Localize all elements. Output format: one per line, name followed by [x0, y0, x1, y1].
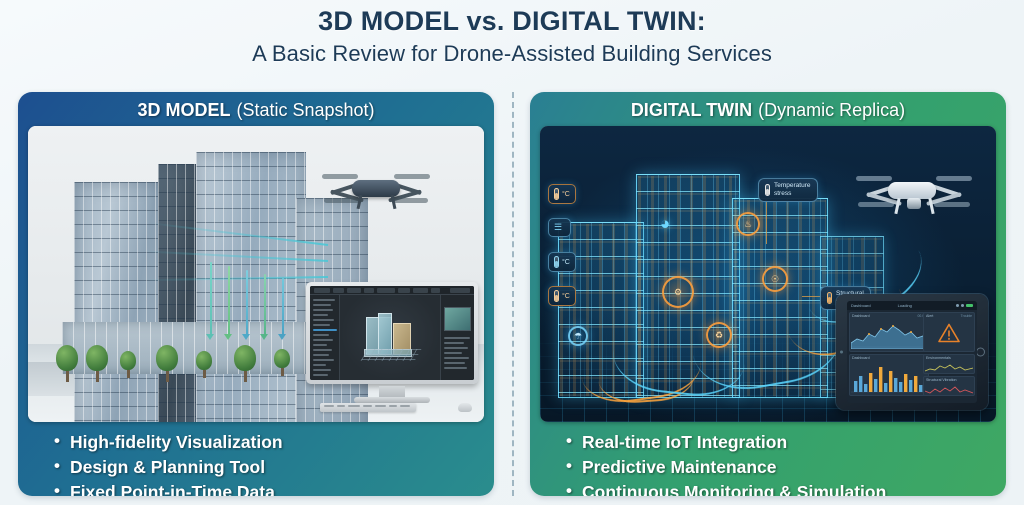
thermometer-icon: [827, 292, 832, 304]
flow-arrow: [278, 334, 286, 340]
line-chart: [925, 385, 973, 395]
right-scene: ◕ ♨ ⚙ ☉ ♻ ☂: [540, 126, 996, 422]
warning-triangle-icon: [938, 323, 960, 342]
sensor-chip-value: °C: [562, 259, 570, 266]
card-value: Trouble: [961, 314, 972, 318]
cad-workstation: [306, 282, 478, 408]
thermometer-icon: [554, 290, 559, 302]
list-item: Predictive Maintenance: [566, 455, 1006, 480]
panel-right-header: DIGITAL TWIN (Dynamic Replica): [530, 92, 1006, 126]
drone-camera-icon: [369, 195, 383, 206]
tablet-title: Dashboard: [851, 303, 871, 308]
data-flow-line: [228, 266, 230, 336]
area-chart: [851, 321, 927, 349]
panel-right-header-light: (Dynamic Replica): [758, 100, 905, 121]
sensor-chip-temperature-3[interactable]: °C: [548, 286, 576, 306]
flow-arrow: [224, 334, 232, 340]
card-heading: Dashboard: [852, 356, 870, 360]
tablet-status-icons: [956, 304, 973, 307]
dashboard-card-area[interactable]: Dashboard 00.00: [849, 312, 929, 352]
tag-temperature-stress[interactable]: Temperature stress: [758, 178, 818, 202]
cad-object-tree: [310, 295, 340, 380]
tablet-screen: Dashboard Loading Dashboard 00.00: [847, 301, 977, 403]
tree: [196, 351, 212, 378]
tree: [274, 349, 290, 376]
thermometer-icon: [554, 188, 559, 200]
mouse: [458, 403, 472, 412]
data-flow-line: [210, 262, 212, 336]
drone-camera-icon: [907, 198, 921, 209]
panel-3d-model: 3D MODEL (Static Snapshot): [18, 92, 494, 496]
tree: [56, 345, 78, 382]
left-bullet-list: High-fidelity Visualization Design & Pla…: [18, 422, 494, 496]
sensor-ring-icon: ♨: [736, 212, 760, 236]
battery-icon: [966, 304, 973, 307]
panel-left-header-strong: 3D MODEL: [137, 100, 230, 121]
panel-left-header-light: (Static Snapshot): [236, 100, 374, 121]
right-bullet-list: Real-time IoT Integration Predictive Mai…: [530, 422, 1006, 496]
page-subtitle: A Basic Review for Drone-Assisted Buildi…: [0, 41, 1024, 67]
list-item: Real-time IoT Integration: [566, 430, 1006, 455]
card-heading: Environmentals: [926, 356, 951, 360]
panel-left-header: 3D MODEL (Static Snapshot): [18, 92, 494, 126]
thermometer-icon: [765, 184, 770, 196]
bar-chart: [851, 363, 927, 393]
dashboard-card-alert[interactable]: Alert Trouble: [923, 312, 975, 352]
drone-right: [858, 164, 970, 222]
sensor-chip-temperature-2[interactable]: °C: [548, 252, 576, 272]
sensor-chip-value: °C: [562, 191, 570, 198]
list-item: Continuous Monitoring & Simulation: [566, 480, 1006, 496]
list-item: Fixed Point-in-Time Data: [54, 480, 494, 496]
flow-arrow: [206, 334, 214, 340]
data-flow-line: [264, 274, 266, 336]
data-flow-line: [246, 270, 248, 336]
page-title: 3D MODEL vs. DIGITAL TWIN:: [0, 6, 1024, 37]
drone-body: [888, 182, 936, 199]
sensor-chip-temperature-1[interactable]: °C: [548, 184, 576, 204]
signal-icon: [956, 304, 959, 307]
tag-leader-line: [766, 198, 767, 244]
flow-arrow: [242, 334, 250, 340]
dashboard-card-bars[interactable]: Dashboard: [849, 354, 929, 396]
monitor-screen: [310, 286, 474, 380]
keyboard: [320, 403, 416, 412]
list-item: Design & Planning Tool: [54, 455, 494, 480]
drone-left: [322, 162, 430, 220]
signal-icon: ☰: [554, 222, 562, 233]
tree: [120, 351, 136, 378]
tag-label-line2: stress: [774, 190, 791, 197]
panel-divider: [512, 92, 514, 496]
tablet-home-button[interactable]: [976, 348, 985, 357]
tree: [234, 345, 256, 382]
card-heading: Structural Vibration: [926, 378, 957, 382]
dashboard-card-environmentals[interactable]: Environmentals: [923, 354, 975, 374]
infographic-page: 3D MODEL vs. DIGITAL TWIN: A Basic Revie…: [0, 0, 1024, 505]
cad-properties-panel: [440, 295, 474, 380]
tree: [86, 345, 108, 382]
card-heading: Alert: [926, 314, 933, 318]
line-chart: [925, 363, 973, 373]
cad-view-cube: [444, 307, 471, 331]
tree: [156, 345, 178, 382]
building-tower-a: [74, 182, 166, 422]
card-heading: Dashboard: [852, 314, 870, 318]
dashboard-card-vibration[interactable]: Structural Vibration: [923, 376, 975, 396]
panel-digital-twin: DIGITAL TWIN (Dynamic Replica) ◕ ♨ ⚙: [530, 92, 1006, 496]
cad-toolbar: [310, 286, 474, 295]
thermometer-icon: [554, 256, 559, 268]
wifi-icon: [961, 304, 964, 307]
panel-right-header-strong: DIGITAL TWIN: [631, 100, 752, 121]
tablet-camera-icon: [840, 351, 843, 354]
list-item: High-fidelity Visualization: [54, 430, 494, 455]
sensor-chip-value: °C: [562, 293, 570, 300]
left-scene: [28, 126, 484, 422]
data-flow-line: [282, 278, 284, 336]
cad-3d-model: [360, 313, 420, 363]
flow-arrow: [260, 334, 268, 340]
monitor-frame: [306, 282, 478, 384]
cad-viewport: [340, 295, 440, 380]
sensor-chip-signal[interactable]: ☰: [548, 218, 571, 237]
tablet-status-bar: Dashboard Loading: [847, 301, 977, 310]
title-block: 3D MODEL vs. DIGITAL TWIN: A Basic Revie…: [0, 6, 1024, 67]
wifi-icon: ◕: [660, 214, 670, 234]
tablet-status: Loading: [898, 303, 912, 308]
tablet-dashboard[interactable]: Dashboard Loading Dashboard 00.00: [836, 294, 988, 410]
tag-label-line1: Temperature: [774, 182, 811, 189]
